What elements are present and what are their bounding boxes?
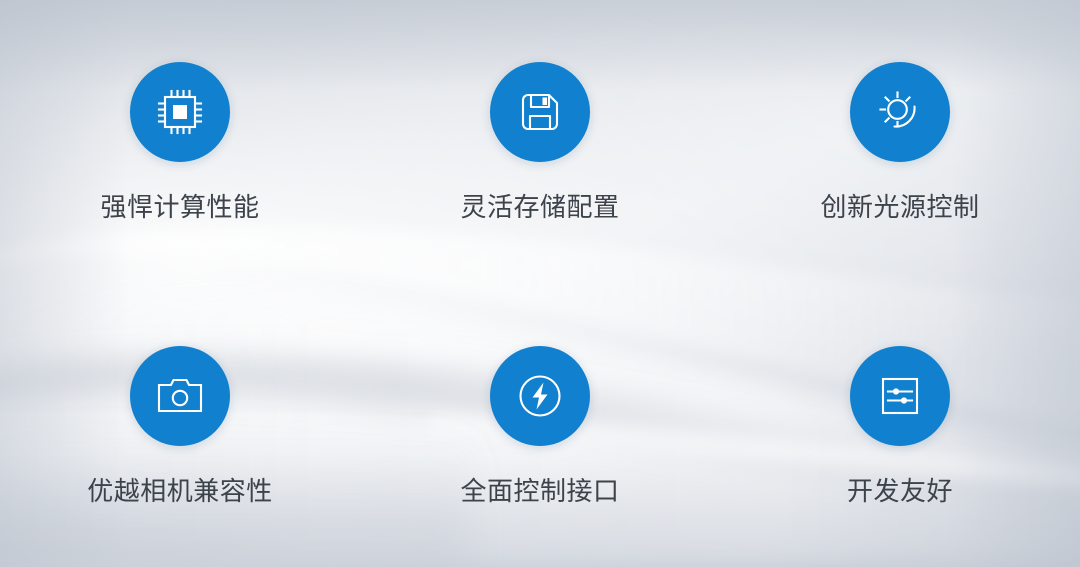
feature-icon-badge — [490, 62, 590, 162]
feature-icon-badge — [850, 346, 950, 446]
feature-icon-badge — [130, 346, 230, 446]
lightning-bolt-circle-icon — [515, 371, 565, 421]
feature-label: 全面控制接口 — [460, 479, 619, 505]
feature-icon-badge — [130, 62, 230, 162]
feature-icon-badge — [850, 62, 950, 162]
feature-label: 强悍计算性能 — [100, 195, 259, 221]
feature-label: 创新光源控制 — [820, 195, 979, 221]
feature-item-control-interface: 全面控制接口 — [375, 346, 705, 505]
feature-item-camera: 优越相机兼容性 — [15, 346, 345, 505]
feature-item-lighting: 创新光源控制 — [735, 62, 1065, 221]
feature-label: 开发友好 — [847, 479, 953, 505]
feature-label: 优越相机兼容性 — [87, 479, 273, 505]
feature-item-compute: 强悍计算性能 — [15, 62, 345, 221]
feature-grid: 强悍计算性能 灵活存储配置 — [0, 0, 1080, 567]
camera-icon — [155, 371, 205, 421]
feature-highlight-banner: 强悍计算性能 灵活存储配置 — [0, 0, 1080, 567]
brightness-sun-icon — [875, 87, 925, 137]
cpu-chip-icon — [154, 86, 206, 138]
feature-label: 灵活存储配置 — [460, 195, 619, 221]
feature-item-developer-friendly: 开发友好 — [735, 346, 1065, 505]
feature-item-storage: 灵活存储配置 — [375, 62, 705, 221]
feature-icon-badge — [490, 346, 590, 446]
sliders-square-icon — [876, 372, 924, 420]
floppy-disk-icon — [516, 88, 564, 136]
